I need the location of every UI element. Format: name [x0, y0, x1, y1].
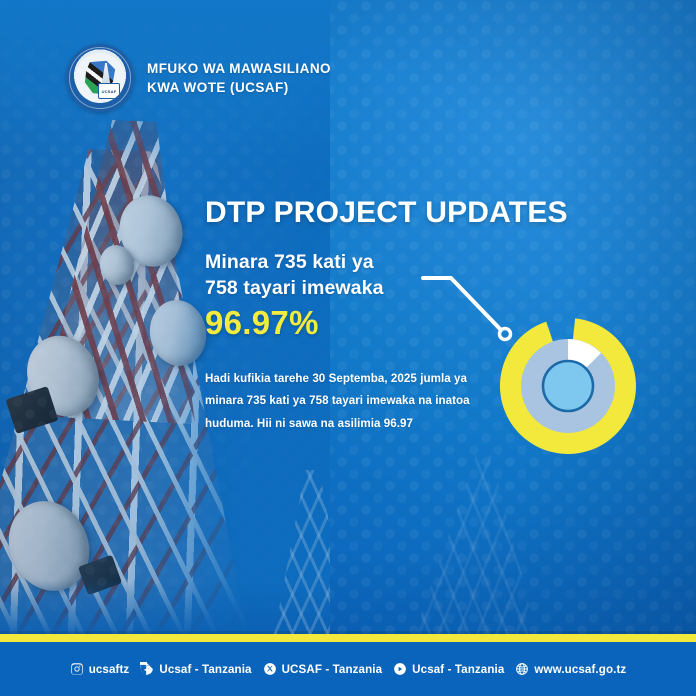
social-label-instagram: ucsaftz — [89, 663, 130, 676]
organization-name: MFUKO WA MAWASILIANO KWA WOTE (UCSAF) — [147, 59, 331, 97]
instagram-icon — [70, 662, 84, 676]
social-link-instagram[interactable]: ucsaftz — [70, 662, 130, 676]
subheading-line-2: 758 tayari imewaka — [205, 277, 384, 299]
infographic-poster: UCSAF MFUKO WA MAWASILIANO KWA WOTE (UCS… — [0, 0, 696, 696]
callout-leader-line — [415, 262, 525, 352]
social-link-website[interactable]: www.ucsaf.go.tz — [515, 662, 626, 676]
globe-icon — [515, 662, 529, 676]
subheading-line-1: Minara 735 kati ya — [205, 251, 374, 273]
social-links-row: ucsaftz Ucsaf - Tanzania — [70, 662, 627, 676]
social-link-x-twitter[interactable]: UCSAF - Tanzania — [263, 662, 383, 676]
social-label-website: www.ucsaf.go.tz — [534, 663, 626, 676]
donut-center-circle — [543, 361, 593, 411]
org-name-line-2: KWA WOTE (UCSAF) — [147, 78, 331, 97]
x-twitter-icon — [263, 662, 277, 676]
header: UCSAF MFUKO WA MAWASILIANO KWA WOTE (UCS… — [66, 44, 331, 112]
body-paragraph: Hadi kufikia tarehe 30 Septemba, 2025 ju… — [205, 368, 493, 436]
ghost-tower-silhouette — [398, 455, 548, 655]
footer: ucsaftz Ucsaf - Tanzania — [0, 642, 696, 696]
social-link-youtube[interactable]: Ucsaf - Tanzania — [393, 662, 504, 676]
social-label-facebook: Ucsaf - Tanzania — [159, 663, 251, 676]
social-label-youtube: Ucsaf - Tanzania — [412, 663, 504, 676]
logo-ring — [69, 47, 131, 109]
footer-yellow-band — [0, 634, 696, 642]
youtube-icon — [393, 662, 407, 676]
ucsaf-logo: UCSAF — [66, 44, 134, 112]
social-link-facebook[interactable]: Ucsaf - Tanzania — [140, 662, 251, 676]
subheading: Minara 735 kati ya 758 tayari imewaka — [205, 249, 420, 301]
social-label-x-twitter: UCSAF - Tanzania — [282, 663, 383, 676]
org-name-line-1: MFUKO WA MAWASILIANO — [147, 59, 331, 78]
facebook-icon — [140, 662, 154, 676]
page-title: DTP PROJECT UPDATES — [205, 196, 675, 229]
